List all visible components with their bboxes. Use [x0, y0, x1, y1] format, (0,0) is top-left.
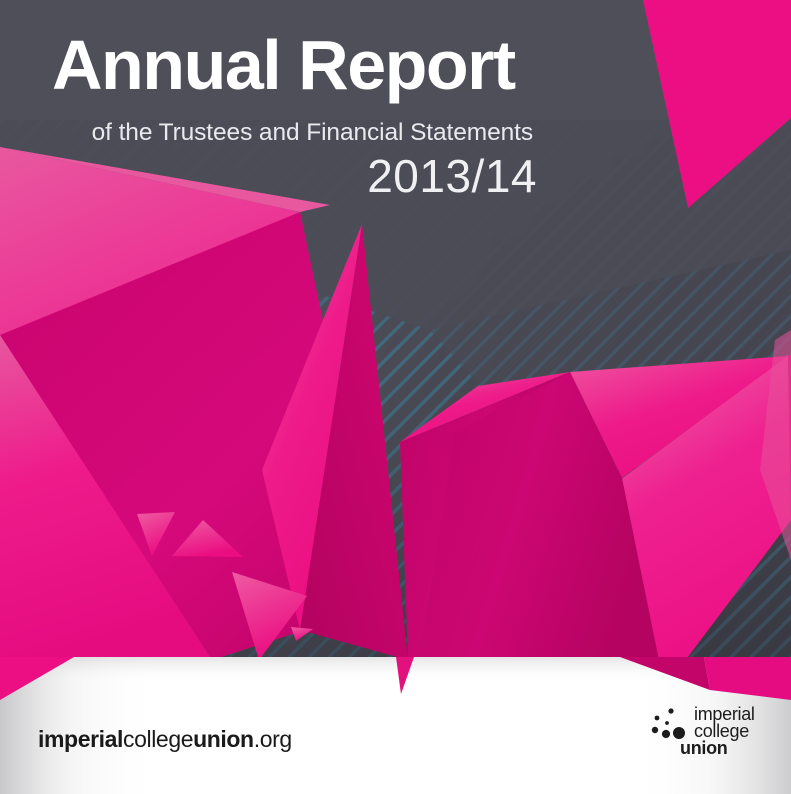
- cover-artwork: [0, 0, 791, 794]
- white-footer-band: [0, 657, 791, 794]
- report-cover: Annual Report of the Trustees and Financ…: [0, 0, 791, 794]
